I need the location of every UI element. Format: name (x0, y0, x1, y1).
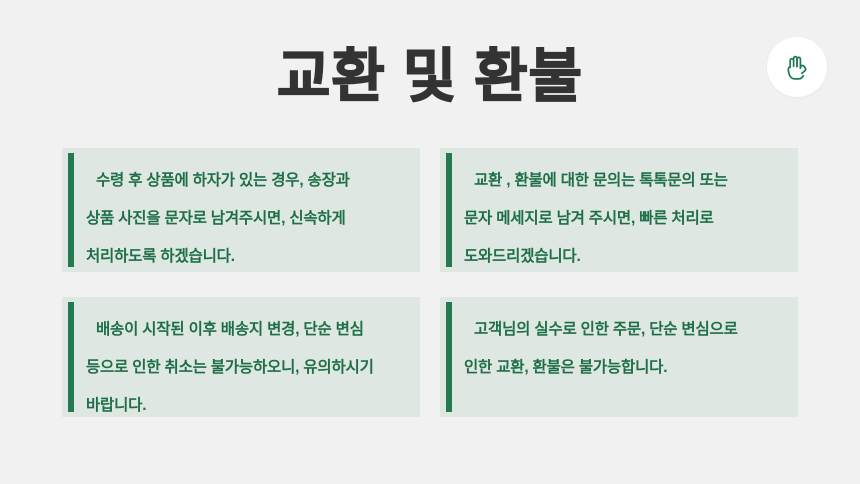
notice-line: 교환 , 환불에 대한 문의는 톡톡문의 또는 (464, 162, 786, 200)
notice-card-inquiry-channel: 교환 , 환불에 대한 문의는 톡톡문의 또는 문자 메세지로 남겨 주시면, … (440, 148, 798, 272)
stop-hand-badge (767, 37, 827, 97)
notice-line: 상품 사진을 문자로 남겨주시면, 신속하게 (86, 200, 408, 238)
accent-bar (68, 153, 74, 267)
page-title: 교환 및 환불 (0, 46, 860, 108)
notice-line: 처리하도록 하겠습니다. (86, 238, 408, 272)
notice-line: 수령 후 상품에 하자가 있는 경우, 송장과 (86, 162, 408, 200)
notice-card-text: 수령 후 상품에 하자가 있는 경우, 송장과 상품 사진을 문자로 남겨주시면… (86, 162, 408, 272)
header: 교환 및 환불 (0, 0, 860, 140)
notice-card-customer-fault: 고객님의 실수로 인한 주문, 단순 변심으로 인한 교환, 환불은 불가능합니… (440, 297, 798, 417)
accent-bar (68, 302, 74, 412)
accent-bar (446, 302, 452, 412)
notice-card-text: 고객님의 실수로 인한 주문, 단순 변심으로 인한 교환, 환불은 불가능합니… (464, 311, 786, 387)
notice-line: 고객님의 실수로 인한 주문, 단순 변심으로 (464, 311, 786, 349)
slide-root: 교환 및 환불 수령 후 상품에 하자가 있는 경우, 송장과 상품 사진을 문… (0, 0, 860, 484)
notice-card-text: 교환 , 환불에 대한 문의는 톡톡문의 또는 문자 메세지로 남겨 주시면, … (464, 162, 786, 272)
notice-line: 배송이 시작된 이후 배송지 변경, 단순 변심 (86, 311, 408, 349)
notice-line: 등으로 인한 취소는 불가능하오니, 유의하시기 (86, 349, 408, 387)
notice-line: 문자 메세지로 남겨 주시면, 빠른 처리로 (464, 200, 786, 238)
notice-card-grid: 수령 후 상품에 하자가 있는 경우, 송장과 상품 사진을 문자로 남겨주시면… (62, 148, 798, 417)
notice-line: 바랍니다. (86, 387, 408, 417)
notice-line: 인한 교환, 환불은 불가능합니다. (464, 349, 786, 387)
notice-card-text: 배송이 시작된 이후 배송지 변경, 단순 변심 등으로 인한 취소는 불가능하… (86, 311, 408, 417)
notice-card-defective-product: 수령 후 상품에 하자가 있는 경우, 송장과 상품 사진을 문자로 남겨주시면… (62, 148, 420, 272)
raised-hand-stop-icon (784, 53, 810, 81)
accent-bar (446, 153, 452, 267)
notice-line: 도와드리겠습니다. (464, 238, 786, 272)
notice-card-shipping-change: 배송이 시작된 이후 배송지 변경, 단순 변심 등으로 인한 취소는 불가능하… (62, 297, 420, 417)
